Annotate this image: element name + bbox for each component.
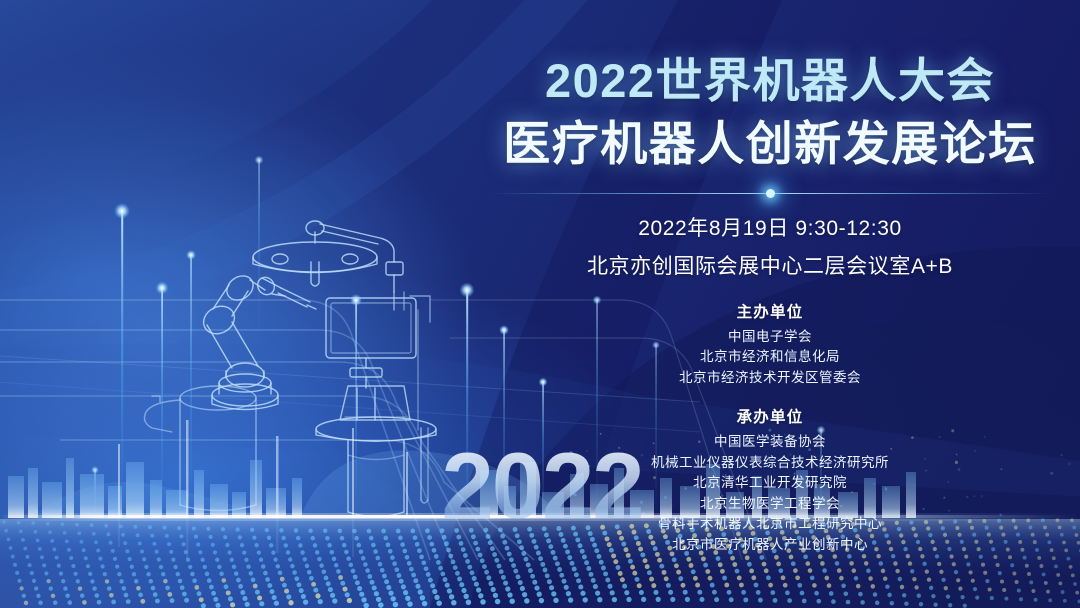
co-organizer-item: 北京清华工业开发研究院: [470, 473, 1070, 494]
page-title-line-1: 2022世界机器人大会: [470, 56, 1070, 107]
equipment-cart-icon: [144, 386, 256, 511]
organizer-item: 北京市经济技术开发区管委会: [470, 368, 1070, 389]
organizers-heading: 主办单位: [470, 300, 1070, 322]
event-venue: 北京亦创国际会展中心二层会议室A+B: [470, 250, 1070, 280]
organizer-item: 北京市经济和信息化局: [470, 347, 1070, 368]
monitor-cart-icon: [316, 292, 436, 517]
organizer-item: 中国电子学会: [470, 327, 1070, 348]
co-organizer-item: 北京生物医学工程学会: [470, 494, 1070, 515]
robot-arm-icon: [199, 271, 316, 410]
co-organizer-item: 中国医学装备协会: [470, 432, 1070, 453]
co-organizer-item: 北京市医疗机器人产业创新中心: [470, 535, 1070, 556]
surgical-light-icon: [253, 221, 403, 292]
organizers-block: 主办单位 中国电子学会北京市经济和信息化局北京市经济技术开发区管委会: [470, 300, 1070, 389]
co-organizers-list: 中国医学装备协会机械工业仪器仪表综合技术经济研究所北京清华工业开发研究院北京生物…: [470, 432, 1070, 555]
co-organizers-heading: 承办单位: [470, 405, 1070, 427]
conference-poster: 2022: [0, 0, 1080, 608]
page-title-line-2: 医疗机器人创新发展论坛: [470, 119, 1070, 170]
event-date: 2022年8月19日 9:30-12:30: [470, 212, 1070, 242]
title-divider: [490, 192, 1050, 195]
organizers-list: 中国电子学会北京市经济和信息化局北京市经济技术开发区管委会: [470, 327, 1070, 389]
co-organizer-item: 骨科手术机器人北京市工程研究中心: [470, 514, 1070, 535]
poster-text-column: 2022世界机器人大会 医疗机器人创新发展论坛 2022年8月19日 9:30-…: [470, 56, 1070, 555]
divider-node-icon: [766, 189, 775, 198]
co-organizer-item: 机械工业仪器仪表综合技术经济研究所: [470, 453, 1070, 474]
co-organizers-block: 承办单位 中国医学装备协会机械工业仪器仪表综合技术经济研究所北京清华工业开发研究…: [470, 405, 1070, 555]
